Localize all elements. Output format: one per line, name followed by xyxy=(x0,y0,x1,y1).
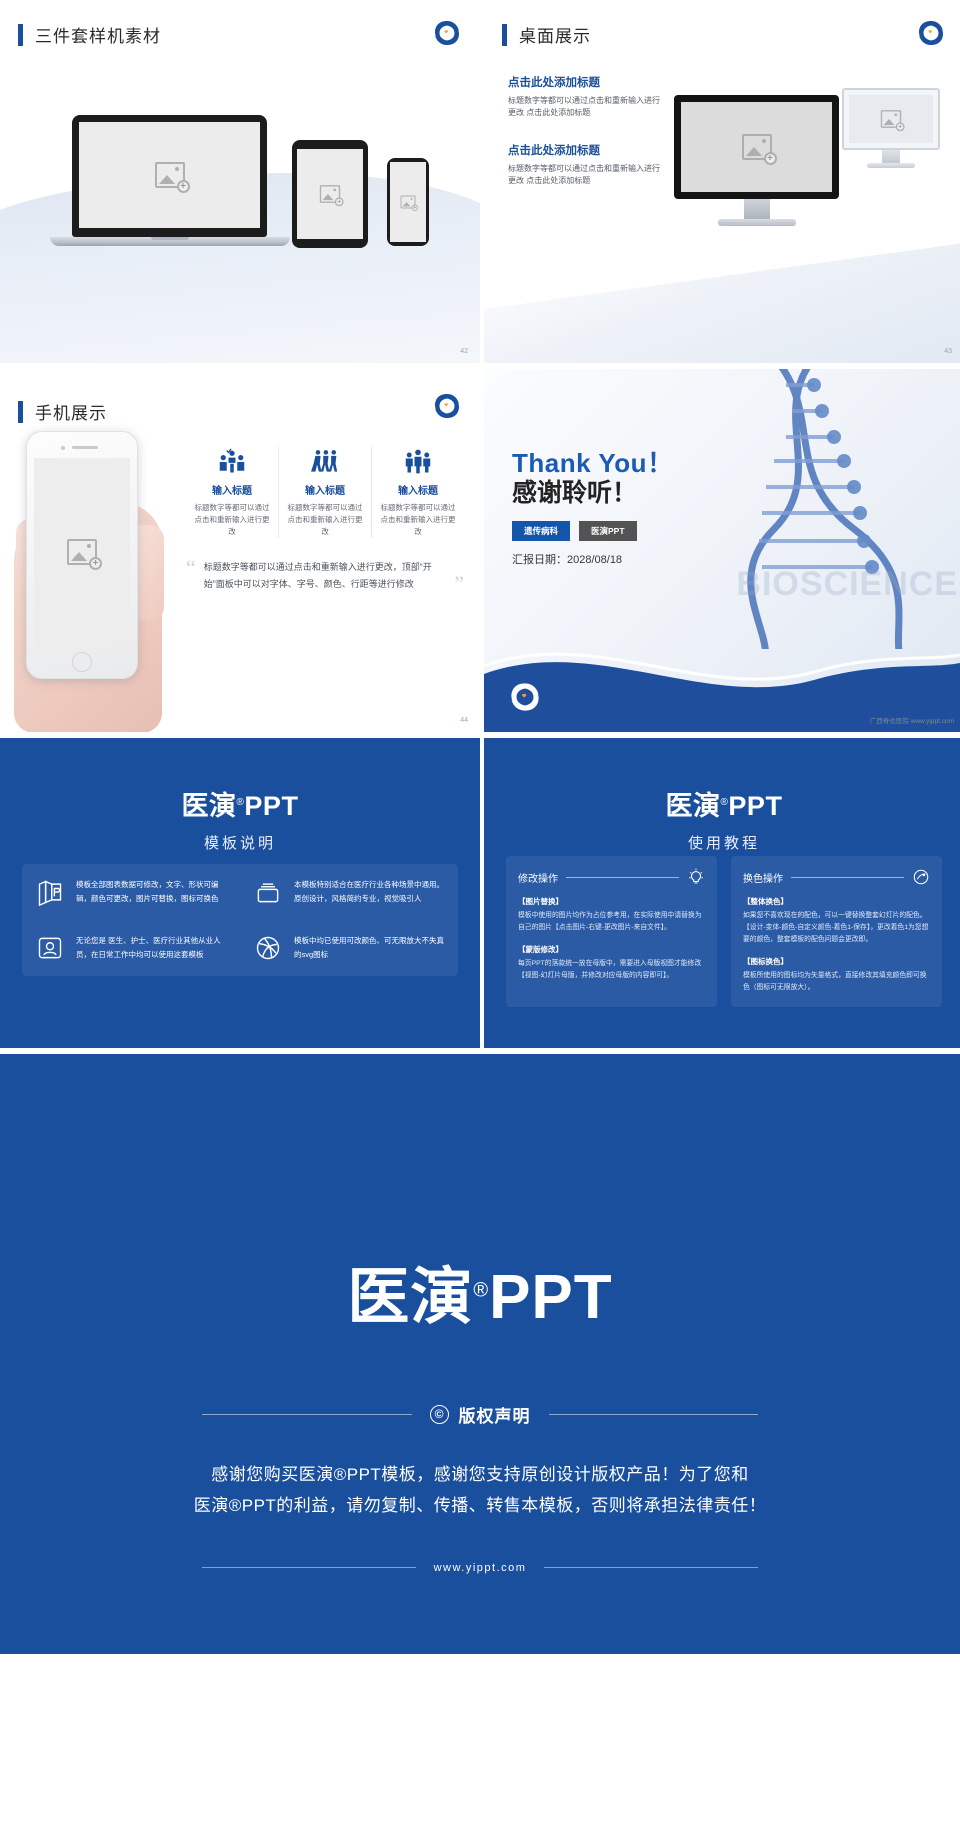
section-title: 【整体换色】 xyxy=(743,896,930,907)
dribbble-icon xyxy=(252,934,284,962)
text-blocks: 点击此处添加标题 标题数字等都可以通过点击和重新输入进行更改 点击此处添加标题 … xyxy=(508,74,663,188)
secondary-monitor-stand xyxy=(867,163,915,168)
brand-tag[interactable]: 医演PPT xyxy=(579,521,637,541)
user-profile-icon xyxy=(34,934,66,962)
phone-home-button xyxy=(72,652,92,672)
section-title: 【蒙版修改】 xyxy=(518,944,705,955)
slide-44-phone-display[interactable]: 手机展示 + xyxy=(0,369,480,732)
copyright-body-line: 感谢您购买医演®PPT模板，感谢您支持原创设计版权产品！为了您和 xyxy=(190,1459,770,1490)
report-date: 汇报日期：2028/08/18 xyxy=(512,551,622,567)
tutorial-columns: 修改操作 【图片替换】 模板中使用的图片均作为占位参考用，在实际使用中请替换为自… xyxy=(506,856,942,1007)
tutorial-column-header: 换色操作 xyxy=(743,868,930,886)
secondary-monitor-neck xyxy=(882,150,900,163)
phone-speaker xyxy=(72,446,98,449)
phone-display: + xyxy=(34,458,130,646)
laptop-screen-bezel: + xyxy=(72,115,267,237)
brand-name-cn: 医演 xyxy=(666,791,721,821)
section-body: 模板中使用的图片均作为占位参考用，在实际使用中请替换为自己的图片【点击图片-右键… xyxy=(518,910,705,934)
feature-column[interactable]: 输入标题 标题数字等都可以通过点击和重新输入进行更改 xyxy=(279,447,372,538)
primary-monitor-mockup: + xyxy=(674,95,839,226)
primary-monitor-neck xyxy=(744,199,770,219)
title-accent-bar xyxy=(502,24,507,46)
people-group-check-icon xyxy=(192,447,272,477)
registered-mark: ® xyxy=(473,1279,489,1301)
image-placeholder-icon: + xyxy=(881,110,901,128)
section-body: 如果您不喜欢现在的配色，可以一键替换整套幻灯片的配色。【设计-变体-颜色-自定义… xyxy=(743,910,930,946)
page-title: 三件套样机素材 xyxy=(35,22,161,47)
editable-chart-icon xyxy=(34,878,66,906)
phone-mockup: + xyxy=(387,158,429,246)
page-title: 桌面展示 xyxy=(519,22,591,47)
website-url[interactable]: www.yippt.com xyxy=(434,1562,527,1574)
tutorial-column-recolor[interactable]: 换色操作 【整体换色】 如果您不喜欢现在的配色，可以一键替换整套幻灯片的配色。【… xyxy=(731,856,942,1007)
image-placeholder-icon: + xyxy=(67,539,97,565)
feature-card[interactable]: 无论您是 医生、护士、医疗行业其他从业人员，在日常工作中均可以使用这套模板 xyxy=(22,920,240,976)
slide-44-header: 手机展示 xyxy=(18,399,107,424)
phone-display: + xyxy=(390,162,426,242)
block-heading: 点击此处添加标题 xyxy=(508,74,663,90)
copyright-footer: www.yippt.com xyxy=(202,1562,758,1574)
image-placeholder-icon: + xyxy=(742,134,772,160)
medical-box-icon xyxy=(252,878,284,906)
primary-monitor-bezel: + xyxy=(674,95,839,199)
phone-camera xyxy=(61,446,65,450)
laptop-mockup: + xyxy=(72,115,267,240)
tutorial-section: 【整体换色】 如果您不喜欢现在的配色，可以一键替换整套幻灯片的配色。【设计-变体… xyxy=(743,896,930,946)
header-rule xyxy=(566,877,679,878)
secondary-monitor-display: + xyxy=(849,95,933,143)
laptop-notch xyxy=(151,237,189,240)
brand-logo-icon xyxy=(432,18,462,48)
title-accent-bar xyxy=(18,401,23,423)
header-rule xyxy=(791,877,904,878)
tutorial-section: 【蒙版修改】 每页PPT的落款统一放在母版中，需要进入母版视图才能修改【视图-幻… xyxy=(518,944,705,982)
brand-logo-icon xyxy=(916,18,946,48)
block-body: 标题数字等都可以通过点击和重新输入进行更改 点击此处添加标题 xyxy=(508,163,663,188)
secondary-monitor-bezel: + xyxy=(842,88,940,150)
copyright-body: 感谢您购买医演®PPT模板，感谢您支持原创设计版权产品！为了您和 医演®PPT的… xyxy=(190,1459,770,1522)
tutorial-section: 【图片替换】 模板中使用的图片均作为占位参考用，在实际使用中请替换为自己的图片【… xyxy=(518,896,705,934)
feature-title: 输入标题 xyxy=(192,482,272,497)
feature-body: 标题数字等都可以通过点击和重新输入进行更改 xyxy=(285,502,365,538)
brand-wordmark-large: 医演®PPT xyxy=(0,1054,960,1336)
feature-columns: 输入标题 标题数字等都可以通过点击和重新输入进行更改 输入标题 标题数字等都可以… xyxy=(186,447,464,538)
feature-card-text: 模板全部图表数据可修改，文字、形状可编辑，颜色可更改，图片可替换，图标可换色 xyxy=(76,878,228,906)
thank-you-title-cn: 感谢聆听！ xyxy=(512,473,637,509)
panel-subtitle: 模板说明 xyxy=(0,832,480,853)
quote-open-icon: “ xyxy=(186,559,196,577)
primary-monitor-display: + xyxy=(681,102,832,192)
phone-mockup: + xyxy=(26,431,138,679)
title-accent-bar xyxy=(18,24,23,46)
palette-icon xyxy=(912,868,930,886)
phone-bezel: + xyxy=(387,158,429,246)
text-block: 点击此处添加标题 标题数字等都可以通过点击和重新输入进行更改 点击此处添加标题 xyxy=(508,74,663,120)
page-number: 44 xyxy=(460,717,468,724)
blue-panels-row: 医演®PPT 模板说明 模板全部图表数据可修改，文字、形状可编辑，颜色可更改，图… xyxy=(0,738,960,1048)
copyright-heading: © 版权声明 xyxy=(430,1402,531,1427)
tutorial-section: 【图标换色】 模板所使用的图标均为矢量格式，直接修改其填充颜色即可换色（图标可无… xyxy=(743,956,930,994)
quote-close-icon: ” xyxy=(454,575,464,593)
tutorial-column-modify[interactable]: 修改操作 【图片替换】 模板中使用的图片均作为占位参考用，在实际使用中请替换为自… xyxy=(506,856,717,1007)
panel-usage-tutorial: 医演®PPT 使用教程 修改操作 【图片替换】 模板中使用的图片 xyxy=(484,738,960,1048)
tablet-bezel: + xyxy=(292,140,368,248)
brand-name-cn: 医演 xyxy=(347,1263,473,1332)
secondary-monitor-mockup: + xyxy=(842,88,940,168)
slide-42-header: 三件套样机素材 xyxy=(18,22,161,47)
slides-row-2: 手机展示 + xyxy=(0,369,960,732)
slide-copyright-notice: 医演®PPT © 版权声明 感谢您购买医演®PPT模板，感谢您支持原创设计版权产… xyxy=(0,1054,960,1654)
feature-card-text: 无论您是 医生、护士、医疗行业其他从业人员，在日常工作中均可以使用这套模板 xyxy=(76,934,228,962)
slide-42-device-mockups[interactable]: 三件套样机素材 + xyxy=(0,0,480,363)
brand-name-ppt: PPT xyxy=(244,791,298,821)
section-title: 【图标换色】 xyxy=(743,956,930,967)
quote-text: 标题数字等都可以通过点击和重新输入进行更改，顶部“开始”面板中可以对字体、字号、… xyxy=(204,559,446,592)
laptop-display: + xyxy=(79,122,260,228)
page-number: 42 xyxy=(460,348,468,355)
slide-45-thank-you[interactable]: BIOSCIENCE Thank You！ 感谢聆听！ 遗传病科 医演PPT 汇… xyxy=(484,369,960,732)
floor-gradient xyxy=(484,243,960,363)
tutorial-heading: 换色操作 xyxy=(743,870,783,885)
copyright-title: 版权声明 xyxy=(459,1402,531,1427)
tablet-display: + xyxy=(297,149,363,239)
people-walking-icon xyxy=(285,447,365,477)
feature-column[interactable]: 输入标题 标题数字等都可以通过点击和重新输入进行更改 xyxy=(186,447,279,538)
feature-body: 标题数字等都可以通过点击和重新输入进行更改 xyxy=(192,502,272,538)
feature-card-text: 本模板特别适合在医疗行业各种场景中通用。原创设计，风格简约专业，视觉吸引人 xyxy=(294,878,446,906)
text-block: 点击此处添加标题 标题数字等都可以通过点击和重新输入进行更改 点击此处添加标题 xyxy=(508,142,663,188)
brand-wordmark: 医演®PPT xyxy=(484,738,960,823)
brand-logo-icon xyxy=(432,391,462,421)
feature-title: 输入标题 xyxy=(285,482,365,497)
quote-block: “ 标题数字等都可以通过点击和重新输入进行更改，顶部“开始”面板中可以对字体、字… xyxy=(186,559,464,592)
image-placeholder-icon: + xyxy=(155,162,185,188)
page-number: 43 xyxy=(944,348,952,355)
feature-title: 输入标题 xyxy=(378,482,458,497)
block-body: 标题数字等都可以通过点击和重新输入进行更改 点击此处添加标题 xyxy=(508,95,663,120)
section-body: 模板所使用的图标均为矢量格式，直接修改其填充颜色即可换色（图标可无限放大）。 xyxy=(743,970,930,994)
department-tag[interactable]: 遗传病科 xyxy=(512,521,570,541)
feature-column[interactable]: 输入标题 标题数字等都可以通过点击和重新输入进行更改 xyxy=(372,447,464,538)
slide-43-header: 桌面展示 xyxy=(502,22,591,47)
brand-name-ppt: PPT xyxy=(728,791,782,821)
people-team-icon xyxy=(378,447,458,477)
tablet-mockup: + xyxy=(292,140,368,248)
brand-wordmark: 医演®PPT xyxy=(0,738,480,823)
feature-card-grid: 模板全部图表数据可修改，文字、形状可编辑，颜色可更改，图片可替换，图标可换色 本… xyxy=(22,864,458,976)
feature-card[interactable]: 模板全部图表数据可修改，文字、形状可编辑，颜色可更改，图片可替换，图标可换色 xyxy=(22,864,240,920)
brand-logo-icon xyxy=(508,680,542,714)
copyright-symbol-icon: © xyxy=(430,1405,449,1424)
tutorial-column-header: 修改操作 xyxy=(518,868,705,886)
divider-rule-left xyxy=(202,1414,412,1415)
tutorial-heading: 修改操作 xyxy=(518,870,558,885)
dna-helix-graphic xyxy=(714,369,960,649)
copyright-body-line: 医演®PPT的利益，请勿复制、传播、转售本模板，否则将承担法律责任！ xyxy=(190,1490,770,1521)
footer-rule-left xyxy=(202,1567,416,1568)
page-title: 手机展示 xyxy=(35,399,107,424)
tag-list: 遗传病科 医演PPT xyxy=(512,521,637,541)
slides-row-1: 三件套样机素材 + xyxy=(0,0,960,363)
block-heading: 点击此处添加标题 xyxy=(508,142,663,158)
watermark-text: BIOSCIENCE xyxy=(736,565,958,604)
image-placeholder-icon: + xyxy=(320,185,340,203)
feature-card[interactable]: 模板中均已使用可改颜色、可无限放大不失真的svg图标 xyxy=(240,920,458,976)
section-title: 【图片替换】 xyxy=(518,896,705,907)
slide-43-desktop-display[interactable]: 桌面展示 点击此处添加标题 标题数字等都可以通过点击和重新输入进行更改 点击此处… xyxy=(484,0,960,363)
footer-rule-right xyxy=(544,1567,758,1568)
feature-card[interactable]: 本模板特别适合在医疗行业各种场景中通用。原创设计，风格简约专业，视觉吸引人 xyxy=(240,864,458,920)
brand-name-cn: 医演 xyxy=(182,791,237,821)
section-body: 每页PPT的落款统一放在母版中，需要进入母版视图才能修改【视图-幻灯片母版，并修… xyxy=(518,958,705,982)
lightbulb-icon xyxy=(687,868,705,886)
feature-card-text: 模板中均已使用可改颜色、可无限放大不失真的svg图标 xyxy=(294,934,446,962)
brand-name-ppt: PPT xyxy=(489,1263,613,1332)
divider-rule-right xyxy=(549,1414,759,1415)
panel-subtitle: 使用教程 xyxy=(484,832,960,853)
feature-body: 标题数字等都可以通过点击和重新输入进行更改 xyxy=(378,502,458,538)
copyright-divider: © 版权声明 xyxy=(202,1402,758,1427)
primary-monitor-stand xyxy=(718,219,796,226)
footer-credit: 广西脊也医院 www.yippt.com xyxy=(870,715,954,725)
panel-template-description: 医演®PPT 模板说明 模板全部图表数据可修改，文字、形状可编辑，颜色可更改，图… xyxy=(0,738,480,1048)
image-placeholder-icon: + xyxy=(401,196,416,209)
